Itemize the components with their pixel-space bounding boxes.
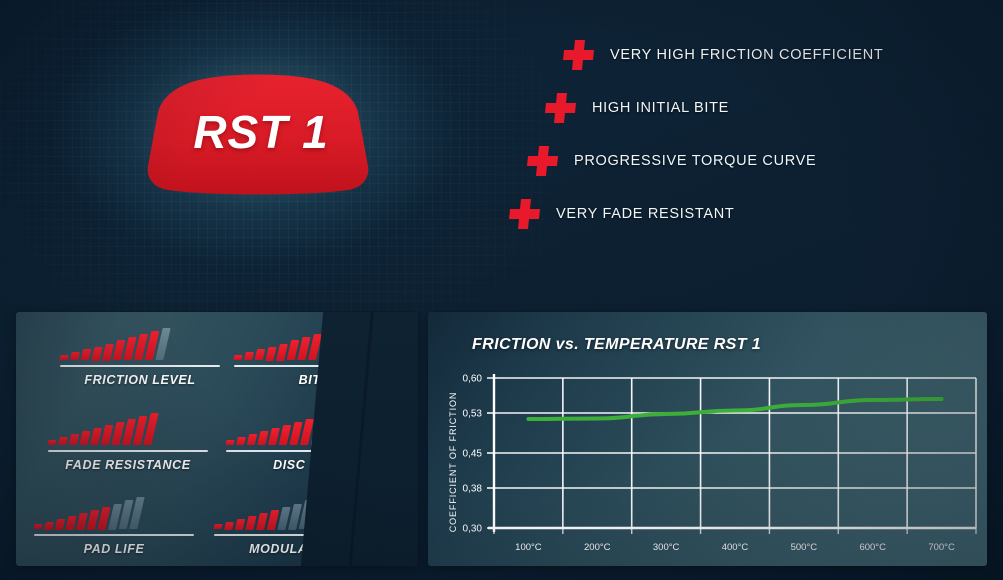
rating-bar-segment [79,431,90,445]
rating-bar-segment [235,519,245,530]
feature-item: HIGH INITIAL BITE [500,81,980,134]
rating-bar-segment [213,524,222,529]
rating-bar-segment [245,516,256,530]
rating-bar-segment [70,352,80,360]
rating-bars [48,411,208,445]
rating-bar-segment [265,347,276,361]
rating-bar-segment [69,434,79,445]
rating-bar-segment [225,440,234,445]
rating-divider [34,534,194,536]
plus-icon [508,197,542,231]
rating-bar-segment [224,522,234,530]
rating-bar-segment [59,355,68,360]
plus-icon [544,91,578,125]
rating-item: FADE RESISTANCE [16,397,196,482]
chart-panel: FRICTION vs. TEMPERATURE RST 1 COEFFICIE… [428,312,987,566]
chart-y-tick-label: 0,38 [463,484,483,495]
chart-series-line [528,399,941,419]
rating-bar-segment [65,516,76,530]
rating-bar-segment [76,513,88,530]
chart-x-tick-label: 600°C [859,542,886,553]
rating-bar-segment [257,431,268,445]
brake-pad-shape-icon [118,50,398,210]
chart-x-tick-label: 200°C [584,542,611,553]
chart-x-tick-label: 500°C [791,542,818,553]
rating-bars [34,495,194,529]
plus-icon [526,144,560,178]
feature-item: VERY HIGH FRICTION COEFFICIENT [500,28,980,81]
feature-list: VERY HIGH FRICTION COEFFICIENT HIGH INIT… [500,28,980,240]
chart-y-tick-label: 0,53 [463,409,483,420]
chart-x-tick-label: 300°C [653,542,680,553]
rating-bar-segment [91,347,102,361]
rating-bar-segment [58,437,68,445]
rating-label: PAD LIFE [34,542,194,556]
feature-item: VERY FADE RESISTANT [500,187,980,240]
product-logo: RST 1 [118,50,398,210]
feature-item: PROGRESSIVE TORQUE CURVE [500,134,980,187]
rating-bar-segment [47,440,56,445]
rating-bar-segment [236,437,246,445]
rating-label: FADE RESISTANCE [48,458,208,472]
rating-bar-segment [44,522,54,530]
friction-temperature-chart: 0,600,530,450,380,30100°C200°C300°C400°C… [428,312,987,566]
rating-bar-segment [233,355,242,360]
feature-label: PROGRESSIVE TORQUE CURVE [574,153,816,169]
chart-y-tick-label: 0,45 [463,449,483,460]
chart-x-tick-label: 400°C [722,542,749,553]
rating-bar-segment [255,349,265,360]
chart-y-tick-label: 0,60 [463,374,483,385]
feature-label: VERY HIGH FRICTION COEFFICIENT [610,47,883,63]
infographic-page: RST 1 VERY HIGH FRICTION COEFFICIENT HIG… [0,0,1003,580]
feature-label: VERY FADE RESISTANT [556,206,735,222]
feature-label: HIGH INITIAL BITE [592,100,729,116]
rating-bar-segment [244,352,254,360]
chart-x-tick-label: 700°C [928,542,955,553]
chart-x-tick-label: 100°C [515,542,542,553]
chart-y-tick-label: 0,30 [463,524,483,535]
rating-bar-segment [247,434,257,445]
plus-icon [562,38,596,72]
rating-bar-segment [55,519,65,530]
rating-bar-segment [256,513,268,530]
rating-bar-segment [81,349,91,360]
rating-item: PAD LIFE [16,481,196,566]
rating-divider [48,450,208,452]
rating-bar-segment [33,524,42,529]
ratings-panel: FRICTION LEVEL BITE FADE RESISTANCE [16,312,418,566]
rating-item: FRICTION LEVEL [16,312,196,397]
